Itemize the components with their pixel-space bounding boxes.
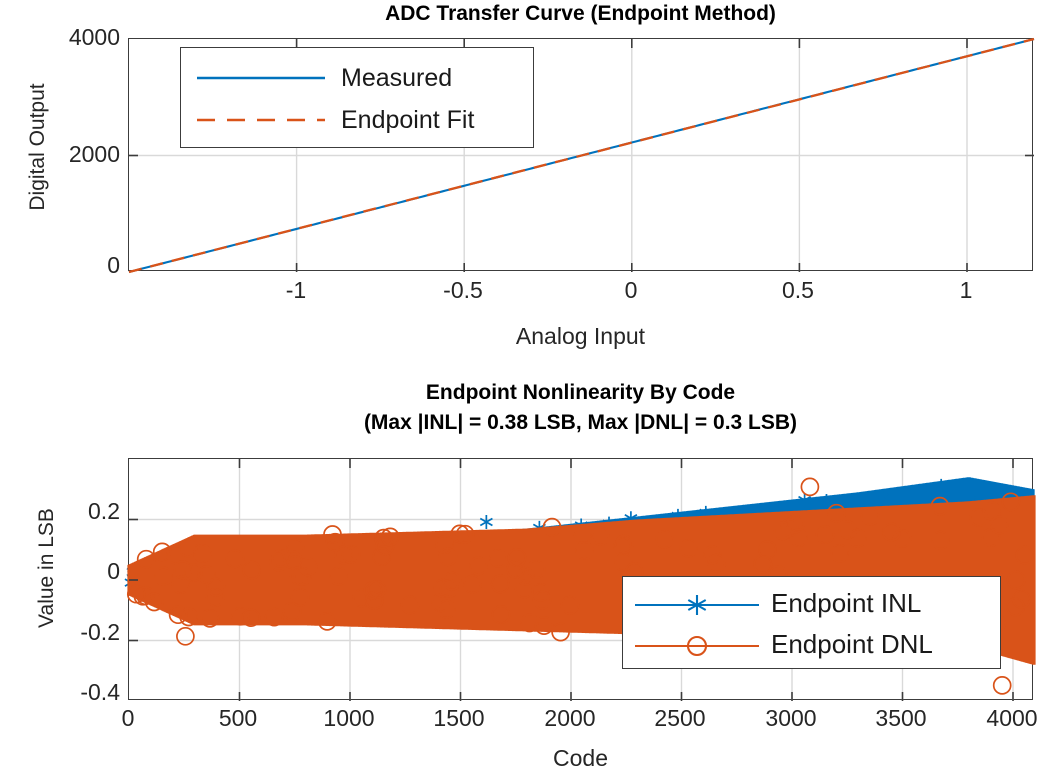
nonlinearity-xtick-1000: 1000 bbox=[299, 705, 399, 732]
transfer-curve-ytick-2000: 2000 bbox=[18, 141, 120, 168]
legend-marker-endpoint-inl bbox=[633, 593, 761, 613]
nonlinearity-xtick-500: 500 bbox=[188, 705, 288, 732]
transfer-curve-xtick-0.5: 0.5 bbox=[748, 277, 848, 304]
legend-entry-endpoint-fit[interactable]: Endpoint Fit bbox=[181, 100, 533, 140]
legend-label-endpoint-inl: Endpoint INL bbox=[771, 588, 921, 619]
legend-line-endpoint-fit bbox=[195, 110, 327, 130]
legend-label-endpoint-fit: Endpoint Fit bbox=[341, 106, 474, 135]
legend-line-measured bbox=[195, 68, 327, 88]
transfer-curve-xtick--1: -1 bbox=[246, 277, 346, 304]
nonlinearity-title-line2: (Max |INL| = 0.38 LSB, Max |DNL| = 0.3 L… bbox=[128, 411, 1033, 436]
nonlinearity-ytick-0.2: 0.2 bbox=[36, 498, 120, 525]
nonlinearity-xtick-2000: 2000 bbox=[520, 705, 620, 732]
legend-entry-endpoint-inl[interactable]: Endpoint INL bbox=[623, 583, 1000, 623]
legend-label-endpoint-dnl: Endpoint DNL bbox=[771, 629, 933, 660]
legend-label-measured: Measured bbox=[341, 64, 452, 93]
matlab-figure: ADC Transfer Curve (Endpoint Method) Dig… bbox=[0, 0, 1053, 778]
legend-entry-endpoint-dnl[interactable]: Endpoint DNL bbox=[623, 624, 1000, 664]
nonlinearity-title-line1: Endpoint Nonlinearity By Code bbox=[128, 381, 1033, 406]
nonlinearity-legend[interactable]: Endpoint INL Endpoint DNL bbox=[622, 576, 1001, 669]
transfer-curve-ytick-4000: 4000 bbox=[18, 24, 120, 51]
nonlinearity-xtick-1500: 1500 bbox=[409, 705, 509, 732]
nonlinearity-xtick-3000: 3000 bbox=[741, 705, 841, 732]
transfer-curve-title: ADC Transfer Curve (Endpoint Method) bbox=[128, 2, 1033, 27]
nonlinearity-ytick--0.2: -0.2 bbox=[36, 619, 120, 646]
nonlinearity-ytick-0: 0 bbox=[36, 558, 120, 585]
transfer-curve-xtick-0: 0 bbox=[581, 277, 681, 304]
nonlinearity-ytick--0.4: -0.4 bbox=[36, 679, 120, 706]
nonlinearity-xtick-2500: 2500 bbox=[630, 705, 730, 732]
legend-entry-measured[interactable]: Measured bbox=[181, 58, 533, 98]
nonlinearity-xlabel: Code bbox=[128, 745, 1033, 772]
nonlinearity-xtick-3500: 3500 bbox=[851, 705, 951, 732]
transfer-curve-legend[interactable]: Measured Endpoint Fit bbox=[180, 47, 534, 148]
legend-marker-endpoint-dnl bbox=[633, 634, 761, 654]
transfer-curve-xlabel: Analog Input bbox=[128, 323, 1033, 350]
transfer-curve-xtick-1: 1 bbox=[916, 277, 1016, 304]
transfer-curve-ytick-0: 0 bbox=[18, 252, 120, 279]
nonlinearity-xtick-0: 0 bbox=[78, 705, 178, 732]
nonlinearity-xtick-4000: 4000 bbox=[962, 705, 1053, 732]
transfer-curve-xtick--0.5: -0.5 bbox=[413, 277, 513, 304]
